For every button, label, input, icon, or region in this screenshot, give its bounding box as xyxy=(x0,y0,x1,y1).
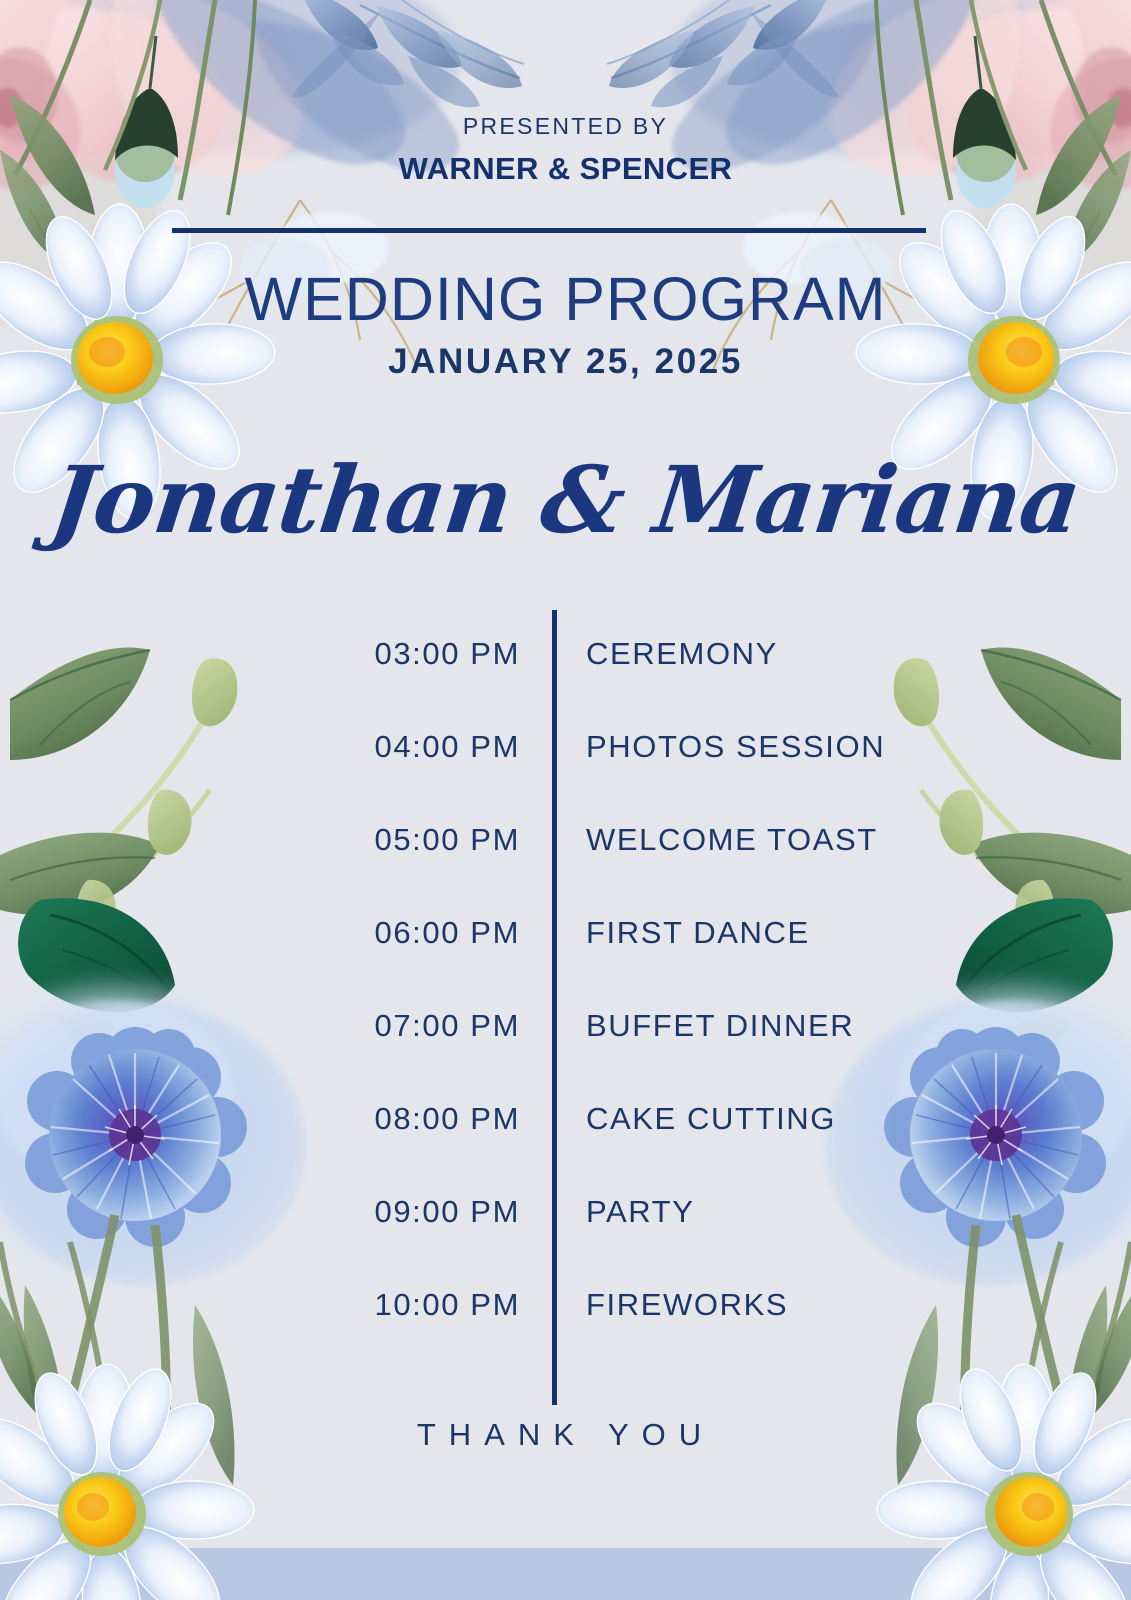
schedule-row: 05:00 PM WELCOME TOAST xyxy=(0,822,1131,915)
schedule-event: BUFFET DINNER xyxy=(586,1008,1106,1044)
schedule-row: 04:00 PM PHOTOS SESSION xyxy=(0,729,1131,822)
thank-you-text: THANK YOU xyxy=(0,1417,1131,1453)
schedule-time: 06:00 PM xyxy=(0,915,520,951)
wedding-program-poster: PRESENTED BY WARNER & SPENCER WEDDING PR… xyxy=(0,0,1131,1600)
schedule-row: 10:00 PM FIREWORKS xyxy=(0,1287,1131,1380)
schedule-time: 07:00 PM xyxy=(0,1008,520,1044)
schedule-time: 04:00 PM xyxy=(0,729,520,765)
poster-content: PRESENTED BY WARNER & SPENCER WEDDING PR… xyxy=(0,0,1131,1600)
schedule-time: 10:00 PM xyxy=(0,1287,520,1323)
event-date: JANUARY 25, 2025 xyxy=(0,342,1131,382)
couple-names: Jonathan & Mariana xyxy=(0,446,1131,554)
schedule-row: 03:00 PM CEREMONY xyxy=(0,636,1131,729)
page-title: WEDDING PROGRAM xyxy=(0,264,1131,334)
schedule-event: FIREWORKS xyxy=(586,1287,1106,1323)
schedule-row: 09:00 PM PARTY xyxy=(0,1194,1131,1287)
schedule-row: 06:00 PM FIRST DANCE xyxy=(0,915,1131,1008)
schedule-time: 08:00 PM xyxy=(0,1101,520,1137)
schedule-row: 08:00 PM CAKE CUTTING xyxy=(0,1101,1131,1194)
schedule-event: CAKE CUTTING xyxy=(586,1101,1106,1137)
schedule-list: 03:00 PM CEREMONY 04:00 PM PHOTOS SESSIO… xyxy=(0,636,1131,1380)
schedule-event: FIRST DANCE xyxy=(586,915,1106,951)
header-divider-rule xyxy=(172,228,926,233)
schedule-time: 09:00 PM xyxy=(0,1194,520,1230)
schedule-time: 03:00 PM xyxy=(0,636,520,672)
schedule-time: 05:00 PM xyxy=(0,822,520,858)
schedule-row: 07:00 PM BUFFET DINNER xyxy=(0,1008,1131,1101)
firm-name: WARNER & SPENCER xyxy=(0,151,1131,187)
schedule-event: PARTY xyxy=(586,1194,1106,1230)
presented-by-label: PRESENTED BY xyxy=(0,113,1131,140)
schedule-event: PHOTOS SESSION xyxy=(586,729,1106,765)
schedule-vertical-divider xyxy=(552,610,557,1405)
schedule-event: WELCOME TOAST xyxy=(586,822,1106,858)
schedule-event: CEREMONY xyxy=(586,636,1106,672)
